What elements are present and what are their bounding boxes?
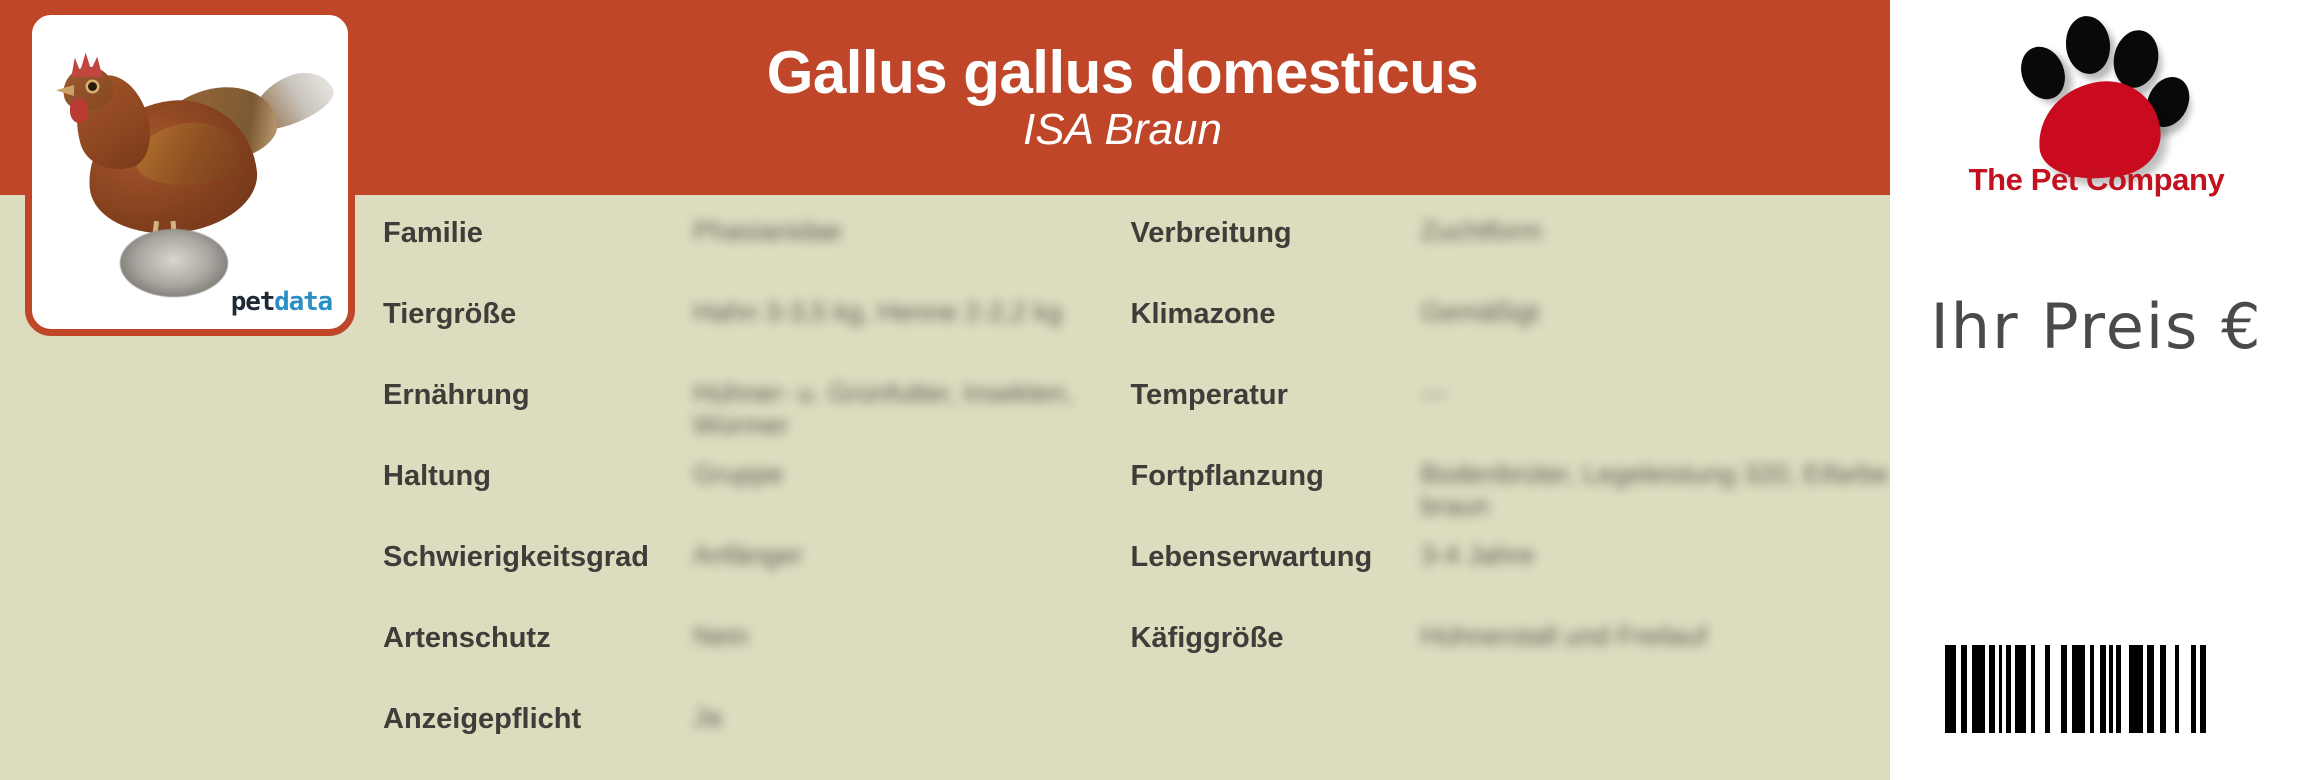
- attribute-label: Artenschutz: [383, 621, 693, 655]
- attribute-row-fortpflanzung: Fortpflanzung Bodenbrüter, Legeleistung …: [1131, 459, 1891, 523]
- attribute-table: Familie Phasianidae Tiergröße Hahn 3-3,5…: [355, 200, 1890, 780]
- attribute-label: Anzeigepflicht: [383, 702, 693, 736]
- barcode-bar: [2206, 645, 2218, 733]
- attribute-value: Zuchtform: [1421, 216, 1891, 248]
- barcode-bar: [2121, 645, 2129, 733]
- attribute-label: Käfiggröße: [1131, 621, 1421, 655]
- brand-logo: The Pet Company: [1890, 6, 2303, 206]
- attribute-value: Bodenbrüter, Legeleistung 320, Eifarbe b…: [1421, 459, 1891, 523]
- barcode-bar: [2072, 645, 2085, 733]
- attribute-row-haltung: Haltung Gruppe: [383, 459, 1093, 493]
- attribute-row-lebenserwartung: Lebenserwartung 3-4 Jahre: [1131, 540, 1891, 574]
- barcode-bar: [2129, 645, 2143, 733]
- attribute-row-temperatur: Temperatur ---: [1131, 378, 1891, 412]
- attribute-label: Verbreitung: [1131, 216, 1421, 250]
- attribute-row-artenschutz: Artenschutz Nein: [383, 621, 1093, 655]
- attribute-row-anzeigepflicht: Anzeigepflicht Ja: [383, 702, 1093, 736]
- attribute-label: Tiergröße: [383, 297, 693, 331]
- attribute-value: ---: [1421, 378, 1891, 410]
- hen-ground-shape: [120, 229, 228, 297]
- attribute-value: Nein: [693, 621, 1093, 653]
- attribute-value: Gruppe: [693, 459, 1093, 491]
- page-title: Gallus gallus domesticus: [767, 42, 1479, 103]
- animal-photo-card: petdata: [25, 8, 355, 336]
- barcode-bar: [2015, 645, 2026, 733]
- brand-name: The Pet Company: [1890, 162, 2303, 198]
- attribute-value: Hühner- u. Grünfutter, Insekten, Würmer: [693, 378, 1093, 442]
- attribute-label: Haltung: [383, 459, 693, 493]
- attribute-value: Gemäßigt: [1421, 297, 1891, 329]
- info-panel: Gallus gallus domesticus ISA Braun: [0, 0, 1890, 780]
- attribute-row-schwierigkeitsgrad: Schwierigkeitsgrad Anfänger: [383, 540, 1093, 574]
- hen-wattle-shape: [70, 99, 88, 123]
- barcode-bar: [1945, 645, 1956, 733]
- petdata-watermark: petdata: [231, 287, 332, 317]
- attribute-label: Klimazone: [1131, 297, 1421, 331]
- attribute-label: Familie: [383, 216, 693, 250]
- barcode-bar: [2147, 645, 2154, 733]
- barcode-bar: [2035, 645, 2045, 733]
- pet-info-card: Gallus gallus domesticus ISA Braun: [0, 0, 2303, 780]
- attribute-value: 3-4 Jahre: [1421, 540, 1891, 572]
- petdata-watermark-part1: pet: [231, 287, 274, 317]
- paw-toe: [2063, 14, 2113, 76]
- attribute-label: Ernährung: [383, 378, 693, 412]
- attribute-label: Fortpflanzung: [1131, 459, 1421, 493]
- animal-photo: [32, 15, 348, 329]
- attribute-column-right: Verbreitung Zuchtform Klimazone Gemäßigt…: [1123, 200, 1891, 780]
- barcode-bar: [1972, 645, 1985, 733]
- hen-eye-shape: [88, 82, 97, 91]
- attribute-value: Hahn 3-3,5 kg, Henne 2-2,2 kg: [693, 297, 1093, 329]
- petdata-watermark-part2: data: [274, 287, 332, 317]
- attribute-value: Anfänger: [693, 540, 1093, 572]
- attribute-row-tiergroesse: Tiergröße Hahn 3-3,5 kg, Henne 2-2,2 kg: [383, 297, 1093, 331]
- price-label: Ihr Preis €: [1890, 290, 2303, 363]
- attribute-label: Temperatur: [1131, 378, 1421, 412]
- barcode-bar: [2179, 645, 2191, 733]
- attribute-row-ernaehrung: Ernährung Hühner- u. Grünfutter, Insekte…: [383, 378, 1093, 442]
- attribute-row-kaefiggroesse: Käfiggröße Hühnerstall und Freilauf: [1131, 621, 1891, 655]
- barcode-bar: [2166, 645, 2175, 733]
- barcode-icon: [1945, 645, 2265, 733]
- attribute-row-verbreitung: Verbreitung Zuchtform: [1131, 216, 1891, 250]
- barcode-bar: [2050, 645, 2061, 733]
- paw-print-icon: [2008, 10, 2198, 160]
- attribute-row-klimazone: Klimazone Gemäßigt: [1131, 297, 1891, 331]
- attribute-column-left: Familie Phasianidae Tiergröße Hahn 3-3,5…: [355, 200, 1123, 780]
- attribute-label: Schwierigkeitsgrad: [383, 540, 693, 574]
- attribute-value: Hühnerstall und Freilauf: [1421, 621, 1891, 653]
- hen-comb-shape: [70, 51, 104, 77]
- attribute-value: Phasianidae: [693, 216, 1093, 248]
- breed-subtitle: ISA Braun: [1023, 107, 1222, 153]
- attribute-label: Lebenserwartung: [1131, 540, 1421, 574]
- title-block: Gallus gallus domesticus ISA Braun: [355, 0, 1890, 195]
- attribute-value: Ja: [693, 702, 1093, 734]
- attribute-row-familie: Familie Phasianidae: [383, 216, 1093, 250]
